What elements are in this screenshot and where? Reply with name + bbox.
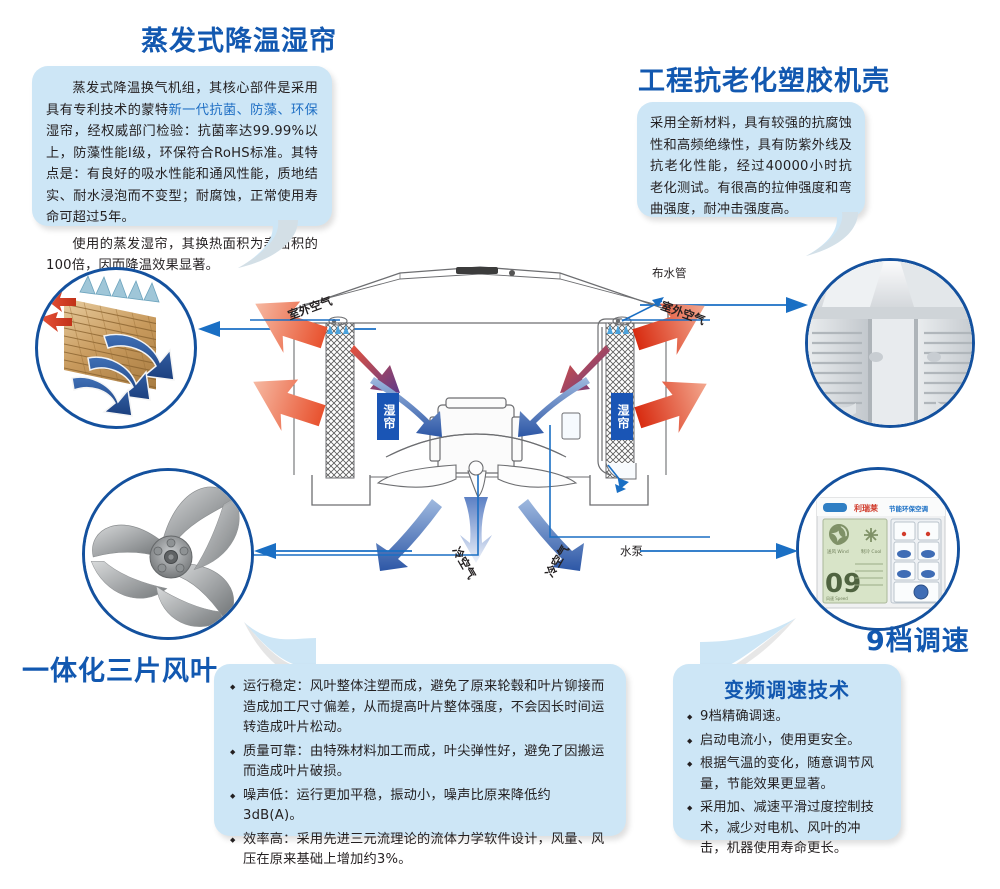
fan-blade-photo-circle bbox=[82, 468, 254, 640]
control-panel-display-value: 09 bbox=[825, 569, 861, 599]
svg-text:风速 Speed: 风速 Speed bbox=[826, 595, 848, 601]
list-item: 采用加、减速平滑过度控制技术，减少对电机、风叶的冲击，机器使用寿命更长。 bbox=[687, 798, 887, 860]
water-pump-label: 水泵 bbox=[620, 543, 643, 559]
plastic-housing-photo bbox=[808, 261, 975, 428]
svg-text:送风 Wind: 送风 Wind bbox=[827, 548, 849, 555]
speed-control-heading: 9档调速 bbox=[866, 628, 970, 655]
speed-control-sub-heading: 变频调速技术 bbox=[687, 674, 887, 703]
wet-curtain-bubble: 蒸发式降温换气机组，其核心部件是采用具有专利技术的蒙特新一代抗菌、防藻、环保湿帘… bbox=[32, 66, 332, 226]
control-panel-photo: 利瑞莱 节能环保空调 送风 Wind 制冷 Cool 09 风速 Speed bbox=[799, 470, 960, 631]
wet-curtain-text-b: 湿帘，经权威部门检验：抗菌率达99.99%以上，防藻性能Ⅰ级，环保符合RoHS标… bbox=[46, 124, 318, 225]
housing-bubble: 采用全新材料，具有较强的抗腐蚀性和高频绝缘性，具有防紫外线及抗老化性能，经过40… bbox=[637, 102, 865, 217]
fan-blade-bubble: 运行稳定：风叶整体注塑而成，避免了原来轮毂和叶片铆接而造成加工尺寸偏差，从而提高… bbox=[214, 664, 626, 836]
water-pipe-label: 布水管 bbox=[652, 265, 687, 281]
wet-curtain-heading: 蒸发式降温湿帘 bbox=[141, 28, 337, 55]
housing-heading: 工程抗老化塑胶机壳 bbox=[638, 68, 890, 95]
list-item: 运行稳定：风叶整体注塑而成，避免了原来轮毂和叶片铆接而造成加工尺寸偏差，从而提高… bbox=[230, 677, 610, 739]
list-item: 根据气温的变化，随意调节风量，节能效果更显著。 bbox=[687, 754, 887, 795]
housing-photo-circle bbox=[805, 258, 975, 428]
list-item: 效率高：采用先进三元流理论的流体力学软件设计，风量、风压在原来基础上增加约3%。 bbox=[230, 830, 610, 871]
list-item: 质量可靠：由特殊材料加工而成，叶尖弹性好，避免了因搬运而造成叶片破损。 bbox=[230, 742, 610, 783]
wet-curtain-right-label: 湿帘 bbox=[611, 393, 633, 440]
fan-blade-heading: 一体化三片风叶 bbox=[22, 658, 218, 685]
wet-curtain-photo-circle bbox=[35, 267, 197, 429]
honeycomb-wet-curtain-photo bbox=[38, 270, 197, 429]
list-item: 启动电流小，使用更安全。 bbox=[687, 731, 887, 752]
list-item: 噪声低：运行更加平稳，振动小，噪声比原来降低约3dB(A)。 bbox=[230, 786, 610, 827]
control-panel-photo-circle: 利瑞莱 节能环保空调 送风 Wind 制冷 Cool 09 风速 Speed bbox=[796, 467, 960, 631]
svg-text:利瑞莱: 利瑞莱 bbox=[853, 503, 878, 513]
svg-text:节能环保空调: 节能环保空调 bbox=[889, 504, 929, 513]
three-blade-fan-photo bbox=[85, 471, 254, 640]
wet-curtain-text-highlight: 新一代抗菌、防藻、环保 bbox=[169, 103, 319, 118]
fan-blade-bullet-list: 运行稳定：风叶整体注塑而成，避免了原来轮毂和叶片铆接而造成加工尺寸偏差，从而提高… bbox=[230, 677, 610, 871]
list-item: 9档精确调速。 bbox=[687, 707, 887, 728]
speed-control-bubble: 变频调速技术 9档精确调速。 启动电流小，使用更安全。 根据气温的变化，随意调节… bbox=[673, 664, 901, 840]
wet-curtain-left-label: 湿帘 bbox=[377, 393, 399, 440]
central-machine-diagram bbox=[250, 265, 710, 615]
housing-paragraph: 采用全新材料，具有较强的抗腐蚀性和高频绝缘性，具有防紫外线及抗老化性能，经过40… bbox=[650, 113, 852, 221]
svg-text:制冷 Cool: 制冷 Cool bbox=[861, 548, 881, 555]
wet-curtain-paragraph-1: 蒸发式降温换气机组，其核心部件是采用具有专利技术的蒙特新一代抗菌、防藻、环保湿帘… bbox=[46, 78, 318, 229]
speed-control-bullet-list: 9档精确调速。 启动电流小，使用更安全。 根据气温的变化，随意调节风量，节能效果… bbox=[687, 707, 887, 860]
